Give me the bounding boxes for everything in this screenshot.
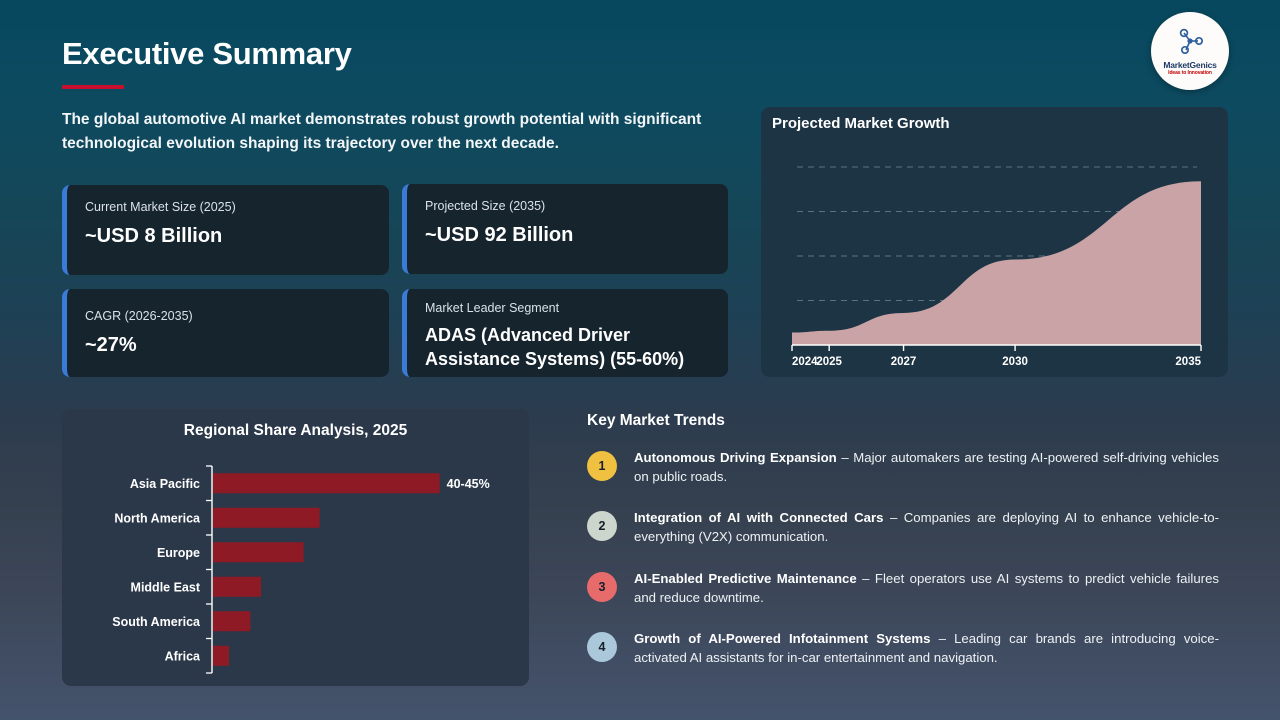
bar-series-group: [213, 473, 440, 666]
x-tick-label: 2024: [792, 356, 818, 368]
bar-category-label: Africa: [165, 649, 201, 663]
trend-item: 4Growth of AI-Powered Infotainment Syste…: [587, 629, 1232, 667]
bar: [213, 611, 250, 631]
area-series-path: [792, 181, 1201, 345]
trend-text: AI-Enabled Predictive Maintenance – Flee…: [634, 569, 1219, 607]
stat-card-label: Market Leader Segment: [425, 300, 710, 316]
stat-card-projected-size: Projected Size (2035) ~USD 92 Billion: [402, 184, 728, 274]
stat-card-label: Projected Size (2035): [425, 198, 710, 214]
stat-card-market-leader-segment: Market Leader Segment ADAS (Advanced Dri…: [402, 289, 728, 377]
trend-text: Growth of AI-Powered Infotainment System…: [634, 629, 1219, 667]
bar: [213, 508, 320, 528]
trend-number-badge: 2: [587, 511, 617, 541]
regional-share-chart: Asia Pacific40-45%North AmericaEuropeMid…: [62, 409, 529, 686]
trend-number-badge: 1: [587, 451, 617, 481]
bar: [213, 473, 440, 493]
x-tick-label: 2025: [816, 356, 842, 368]
molecule-node-icon: [1175, 28, 1205, 59]
bar-category-label: Asia Pacific: [130, 477, 200, 491]
section-title: Key Market Trends: [587, 412, 1232, 430]
projected-market-growth-panel: Projected Market Growth 2024202520272030…: [761, 107, 1228, 377]
bar-value-label: 40-45%: [447, 477, 490, 491]
stat-card-label: CAGR (2026-2035): [85, 308, 371, 324]
bar: [213, 646, 229, 666]
stat-card-value: ~27%: [85, 332, 371, 358]
trend-heading: Integration of AI with Connected Cars: [634, 510, 883, 525]
stat-card-value: ~USD 92 Billion: [425, 222, 710, 248]
bar: [213, 542, 304, 562]
trend-list: 1Autonomous Driving Expansion – Major au…: [587, 448, 1232, 667]
stat-card-value: ADAS (Advanced Driver Assistance Systems…: [425, 324, 710, 372]
regional-share-panel: Regional Share Analysis, 2025 Asia Pacif…: [62, 409, 529, 686]
logo-tagline: Ideas to Innovation: [1168, 70, 1212, 76]
bar-category-label: North America: [114, 511, 201, 525]
trend-heading: Growth of AI-Powered Infotainment System…: [634, 631, 931, 646]
x-tick-label: 2035: [1175, 356, 1201, 368]
projected-market-growth-chart: 20242025202720302035: [761, 107, 1228, 377]
trend-item: 1Autonomous Driving Expansion – Major au…: [587, 448, 1232, 486]
bar: [213, 577, 261, 597]
x-tick-label: 2027: [891, 356, 917, 368]
trend-item: 2Integration of AI with Connected Cars –…: [587, 508, 1232, 546]
chart-y-axis: [206, 466, 212, 673]
chart-category-labels: Asia Pacific40-45%North AmericaEuropeMid…: [112, 477, 490, 664]
bar-category-label: Middle East: [131, 580, 201, 594]
chart-x-axis: [792, 345, 1201, 351]
trend-heading: Autonomous Driving Expansion: [634, 450, 837, 465]
page-title: Executive Summary: [62, 36, 352, 72]
trend-text: Integration of AI with Connected Cars – …: [634, 508, 1219, 546]
stat-card-current-market-size: Current Market Size (2025) ~USD 8 Billio…: [62, 185, 389, 275]
trend-number-badge: 4: [587, 632, 617, 662]
chart-title: Regional Share Analysis, 2025: [62, 422, 529, 440]
page-subtitle: The global automotive AI market demonstr…: [62, 108, 702, 156]
trend-heading: AI-Enabled Predictive Maintenance: [634, 571, 857, 586]
x-tick-label: 2030: [1002, 356, 1028, 368]
key-market-trends-section: Key Market Trends 1Autonomous Driving Ex…: [587, 412, 1232, 689]
chart-x-tick-labels: 20242025202720302035: [792, 356, 1202, 368]
title-underline-rule: [62, 85, 124, 89]
stat-card-cagr: CAGR (2026-2035) ~27%: [62, 289, 389, 377]
trend-item: 3AI-Enabled Predictive Maintenance – Fle…: [587, 569, 1232, 607]
logo-wordmark: MarketGenics: [1163, 60, 1216, 70]
trend-text: Autonomous Driving Expansion – Major aut…: [634, 448, 1219, 486]
stat-card-label: Current Market Size (2025): [85, 199, 371, 215]
stat-card-value: ~USD 8 Billion: [85, 223, 371, 249]
brand-logo: MarketGenics Ideas to Innovation: [1151, 12, 1229, 90]
bar-category-label: South America: [112, 615, 201, 629]
bar-category-label: Europe: [157, 546, 200, 560]
trend-number-badge: 3: [587, 572, 617, 602]
